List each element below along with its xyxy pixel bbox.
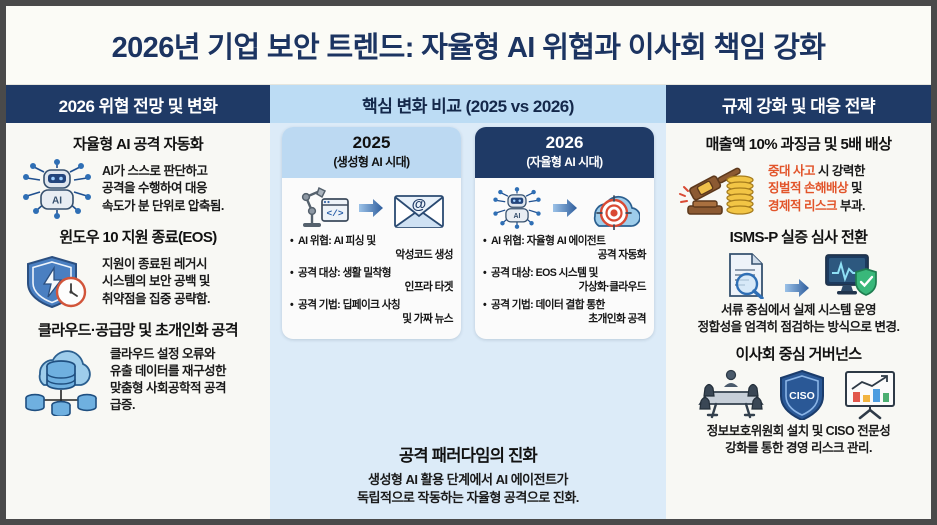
email-envelope-icon: @ [392,186,446,230]
card-2025-header: 2025 (생성형 AI 시대) [282,127,461,178]
item-line2: 가상화·클라우드 [491,281,646,295]
page-title: 2026년 기업 보안 트렌드: 자율형 AI 위협과 이사회 책임 강화 [112,24,826,66]
item-line2: 인프라 타겟 [298,281,453,295]
list-item-body: 공격 기법: 데이터 결합 통한 초개인화 공격 [491,299,646,327]
text-line: 맞춤형 사회공학적 공격 [110,380,226,397]
list-item-body: AI 위협: AI 피싱 및 악성코드 생성 [298,235,453,263]
card-subtitle: (자율형 AI 시대) [479,153,650,170]
middle-column-header: 핵심 변화 비교 (2025 vs 2026) [270,85,666,123]
block-text: 지원이 종료된 레거시 시스템의 보안 공백 및 취약점을 집중 공략함. [102,256,210,308]
text-line: 서류 중심에서 실제 시스템 운영 [678,302,919,319]
item-line1: 자율형 AI 에이전트 [527,235,606,247]
block-title: 윈도우 10 지원 종료(EOS) [18,226,258,247]
presentation-chart-icon [840,368,900,420]
text-line: 클라우드 설정 오류와 [110,346,226,363]
summary-title: 공격 패러다임의 진화 [280,442,656,466]
arrow-right-icon [552,197,578,219]
svg-text:AI: AI [52,196,62,207]
boardroom-table-icon [698,368,764,420]
summary-line: 독립적으로 작동하는 자율형 공격으로 진화. [280,489,656,507]
rich-line: 경제적 리스크 부과. [768,198,865,215]
list-item: • AI 위협: 자율형 AI 에이전트 공격 자동화 [483,235,646,263]
text-line: 시스템의 보안 공백 및 [102,273,210,290]
block-text: 클라우드 설정 오류와 유출 데이터를 재구성한 맞춤형 사회공학적 공격 급증… [110,346,226,415]
card-2026: 2026 (자율형 AI 시대) [475,127,654,339]
robot-arm-code-icon: </> [298,185,350,231]
columns-container: 2026 위협 전망 및 변화 자율형 AI 공격 자동화 [6,85,931,519]
right-column-header: 규제 강화 및 대응 전략 [666,85,931,123]
infographic-root: 2026년 기업 보안 트렌드: 자율형 AI 위협과 이사회 책임 강화 20… [0,0,937,525]
title-bar: 2026년 기업 보안 트렌드: 자율형 AI 위협과 이사회 책임 강화 [6,6,931,85]
middle-column-body: 2025 (생성형 AI 시대) [270,123,666,519]
text-line: 지원이 종료된 레거시 [102,256,210,273]
plain-text: 및 [848,181,862,195]
item-label: 공격 기법: [491,299,533,311]
item-label: 공격 기법: [298,299,340,311]
block-title: ISMS-P 실증 심사 전환 [678,226,919,247]
item-label: AI 위협: [298,235,331,247]
ciso-label: CISO [789,390,815,402]
item-line1: AI 피싱 및 [334,235,376,247]
block-title: 이사회 중심 거버넌스 [678,343,919,364]
text-line: 정보보호위원회 설치 및 CISO 전문성 [678,423,919,440]
highlight-text: 징벌적 손해배상 [768,181,848,195]
item-label: 공격 대상: [491,267,533,279]
arrow-right-icon [358,197,384,219]
bullet-dot: • [483,235,491,263]
right-column-body: 매출액 10% 과징금 및 5배 배상 [666,123,931,519]
item-line2: 공격 자동화 [491,249,646,263]
middle-summary: 공격 패러다임의 진화 생성형 AI 활용 단계에서 AI 에이전트가 독립적으… [270,438,666,519]
left-column-header: 2026 위협 전망 및 변화 [6,85,270,123]
cloud-database-network-icon [18,344,104,416]
list-item: • 공격 대상: EOS 시스템 및 가상화·클라우드 [483,267,646,295]
bullet-dot: • [290,299,298,327]
card-year: 2026 [479,134,650,152]
comparison-cards: 2025 (생성형 AI 시대) [270,123,666,339]
ciso-shield-icon: CISO [776,368,828,420]
block-title: 클라우드·공급망 및 초개인화 공격 [18,319,258,340]
bullet-dot: • [483,267,491,295]
list-item-body: 공격 대상: EOS 시스템 및 가상화·클라우드 [491,267,646,295]
item-line1: 딥페이크 사칭 [343,299,401,311]
bullet-dot: • [483,299,491,327]
arrow-right-icon [784,277,810,299]
text-line: 취약점을 집중 공략함. [102,291,210,308]
bullet-dot: • [290,267,298,295]
block-text: 서류 중심에서 실제 시스템 운영 정합성을 엄격히 점검하는 방식으로 변경. [678,302,919,337]
rich-line: 중대 사고 시 강력한 [768,163,865,180]
text-line: 정합성을 엄격히 점검하는 방식으로 변경. [678,319,919,336]
list-item: • 공격 기법: 딥페이크 사칭 및 가짜 뉴스 [290,299,453,327]
item-line2: 및 가짜 뉴스 [298,313,453,327]
item-label: AI 위협: [491,235,524,247]
bullet-dot: • [290,235,298,263]
column-left: 2026 위협 전망 및 변화 자율형 AI 공격 자동화 [6,85,270,519]
card-2026-visual: AI [475,178,654,235]
highlight-text: 경제적 리스크 [768,199,837,213]
list-item-body: 공격 기법: 딥페이크 사칭 및 가짜 뉴스 [298,299,453,327]
item-line1: 생활 밀착형 [343,267,391,279]
item-line1: 데이터 결합 통한 [536,299,605,311]
shield-clock-icon [18,251,96,313]
highlight-text: 중대 사고 [768,164,815,178]
gavel-coins-icon [678,158,762,220]
list-item: • 공격 대상: 생활 밀착형 인프라 타겟 [290,267,453,295]
text-line: AI가 스스로 판단하고 [102,163,224,180]
item-line2: 초개인화 공격 [491,313,646,327]
list-item: • 공격 기법: 데이터 결합 통한 초개인화 공격 [483,299,646,327]
text-line: 공격을 수행하여 대응 [102,180,224,197]
plain-text: 부과. [837,199,865,213]
left-block-ai-automation: 자율형 AI 공격 자동화 [18,133,258,220]
text-line: 속도가 분 단위로 압축됨. [102,198,224,215]
ai-robot-network-icon: AI [490,185,544,231]
document-magnifier-icon [720,251,772,299]
left-column-body: 자율형 AI 공격 자동화 [6,123,270,519]
left-block-windows-eos: 윈도우 10 지원 종료(EOS) [18,226,258,313]
plain-text: 시 강력한 [815,164,865,178]
left-block-cloud-supplychain: 클라우드·공급망 및 초개인화 공격 [18,319,258,416]
ismsp-icon-row [678,251,919,299]
column-middle: 핵심 변화 비교 (2025 vs 2026) 2025 (생성형 AI 시대) [270,85,666,519]
rich-line: 징벌적 손해배상 및 [768,180,865,197]
list-item: • AI 위협: AI 피싱 및 악성코드 생성 [290,235,453,263]
card-year: 2025 [286,134,457,152]
block-text: 중대 사고 시 강력한 징벌적 손해배상 및 경제적 리스크 부과. [768,163,865,215]
card-2025-items: • AI 위협: AI 피싱 및 악성코드 생성 • 공격 대 [282,235,461,339]
svg-text:AI: AI [513,213,520,220]
summary-line: 생성형 AI 활용 단계에서 AI 에이전트가 [280,471,656,489]
block-text: 정보보호위원회 설치 및 CISO 전문성 강화를 통한 경영 리스크 관리. [678,423,919,458]
governance-icon-row: CISO [678,368,919,420]
text-line: 유출 데이터를 재구성한 [110,363,226,380]
list-item-body: 공격 대상: 생활 밀착형 인프라 타겟 [298,267,453,295]
item-line1: EOS 시스템 및 [536,267,598,279]
block-title: 매출액 10% 과징금 및 5배 배상 [678,133,919,154]
list-item-body: AI 위협: 자율형 AI 에이전트 공격 자동화 [491,235,646,263]
card-2025-visual: </> [282,178,461,235]
block-title: 자율형 AI 공격 자동화 [18,133,258,154]
text-line: 강화를 통한 경영 리스크 관리. [678,440,919,457]
card-2026-items: • AI 위협: 자율형 AI 에이전트 공격 자동화 • 공 [475,235,654,339]
svg-text:@: @ [411,196,426,213]
right-block-ismsp: ISMS-P 실증 심사 전환 [678,226,919,337]
card-subtitle: (생성형 AI 시대) [286,153,457,170]
card-2026-header: 2026 (자율형 AI 시대) [475,127,654,178]
svg-text:</>: </> [326,208,343,219]
card-2025: 2025 (생성형 AI 시대) [282,127,461,339]
monitor-shield-icon [822,251,878,299]
cloud-target-icon [586,186,640,230]
ai-robot-network-icon: AI [18,158,96,220]
text-line: 급증. [110,397,226,414]
item-label: 공격 대상: [298,267,340,279]
column-right: 규제 강화 및 대응 전략 매출액 10% 과징금 및 5배 배상 [666,85,931,519]
block-text: AI가 스스로 판단하고 공격을 수행하여 대응 속도가 분 단위로 압축됨. [102,163,224,215]
item-line2: 악성코드 생성 [298,249,453,263]
right-block-governance: 이사회 중심 거버넌스 [678,343,919,458]
right-block-penalty: 매출액 10% 과징금 및 5배 배상 [678,133,919,220]
